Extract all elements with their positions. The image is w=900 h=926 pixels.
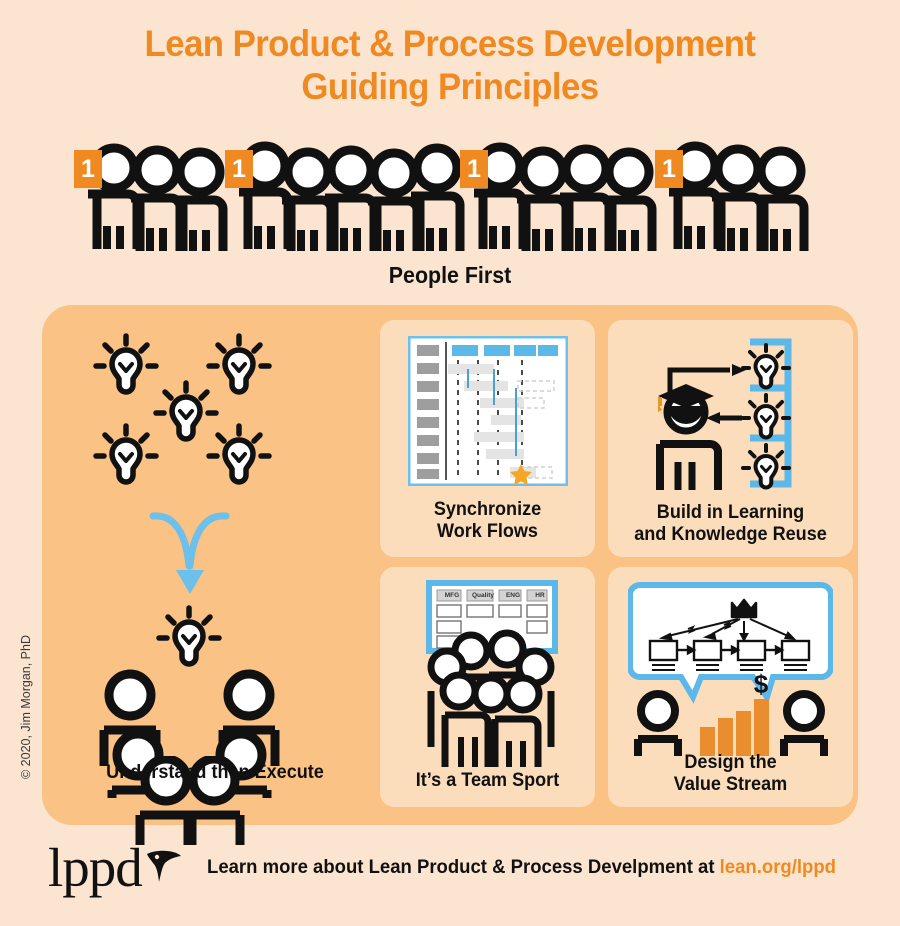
bulb-icon-5: [209, 426, 269, 482]
gantt-chart-icon: [408, 336, 568, 486]
card-synchronize-work-flows[interactable]: Synchronize Work Flows: [380, 320, 595, 557]
badge-number-1: 1: [74, 150, 102, 188]
caption-line-1: Synchronize: [434, 499, 541, 520]
card-caption: Synchronize Work Flows: [385, 499, 589, 542]
person-head-right: [787, 694, 821, 728]
footer-message-prefix: Learn more about Lean Product & Process …: [207, 856, 720, 878]
graduate-knowledge-shelf-icon: [638, 334, 828, 494]
footer: lppd Learn more about Lean Product & Pro…: [0, 838, 900, 908]
caption-line-1: Design the: [684, 752, 776, 773]
person-head: [228, 674, 270, 716]
graduate-person-icon: [658, 384, 718, 490]
value-stream-map-icon: $: [628, 581, 833, 756]
footer-url-link[interactable]: lean.org/lppd: [720, 856, 836, 878]
title-line-1: Lean Product & Process Development: [145, 23, 756, 64]
people-icons-group-3: [460, 140, 670, 255]
people-icons-group-2: [225, 140, 475, 255]
copyright-notice: © 2020, Jim Morgan, PhD: [19, 607, 33, 807]
card-caption: Build in Learning and Knowledge Reuse: [614, 502, 847, 545]
person-head: [109, 674, 151, 716]
bulb-icon-4: [96, 426, 156, 482]
caption-line-2: and Knowledge Reuse: [634, 524, 827, 545]
people-group-2: 1: [225, 140, 475, 255]
caption-line-2: Work Flows: [437, 521, 538, 542]
bulb-icon-result: [159, 608, 219, 664]
card-its-a-team-sport[interactable]: MFG Quality ENG HR It’s a Team Sport: [380, 567, 595, 807]
bird-icon: [145, 850, 185, 886]
bulb-icon-middle: [743, 395, 789, 438]
dollar-symbol: $: [754, 669, 769, 699]
people-group-3: 1: [460, 140, 670, 255]
bulb-icon-top: [743, 345, 789, 388]
footer-message: Learn more about Lean Product & Process …: [207, 856, 836, 879]
badge-number-3: 1: [460, 150, 488, 188]
caption-line-2: Value Stream: [674, 774, 787, 795]
bulb-icon-2: [209, 336, 269, 392]
infographic-canvas: Lean Product & Process Development Guidi…: [0, 0, 900, 926]
bar-chart-icon: [700, 699, 769, 756]
understand-then-execute-illustration: [56, 318, 356, 798]
card-caption: Design the Value Stream: [614, 752, 847, 795]
understand-then-execute-caption: Understand then Execute: [58, 762, 372, 784]
badge-number-4: 1: [655, 150, 683, 188]
people-group-1: 1: [74, 140, 234, 255]
arrow-head-icon: [176, 570, 204, 594]
card-caption: It’s a Team Sport: [385, 770, 589, 791]
people-first-row: 1: [60, 140, 850, 255]
page-title: Lean Product & Process Development Guidi…: [27, 22, 873, 109]
people-group-4: 1: [655, 140, 835, 255]
caption-line-1: It’s a Team Sport: [416, 770, 559, 791]
bulbs-and-people-graphic: [56, 318, 356, 798]
badge-number-2: 1: [225, 150, 253, 188]
lppd-logo-text[interactable]: lppd: [48, 840, 142, 895]
bulb-icon-3: [156, 383, 216, 439]
person-head-left: [641, 694, 675, 728]
caption-line-1: Build in Learning: [657, 502, 804, 523]
bulb-icon-1: [96, 336, 156, 392]
converging-arrow-icon: [153, 516, 226, 566]
card-design-the-value-stream[interactable]: $ Design the Value Stream: [608, 567, 853, 807]
card-build-in-learning[interactable]: Build in Learning and Knowledge Reuse: [608, 320, 853, 557]
people-first-label: People First: [32, 262, 869, 289]
title-line-2: Guiding Principles: [27, 65, 873, 108]
kanban-board-team-icon: [395, 579, 580, 769]
